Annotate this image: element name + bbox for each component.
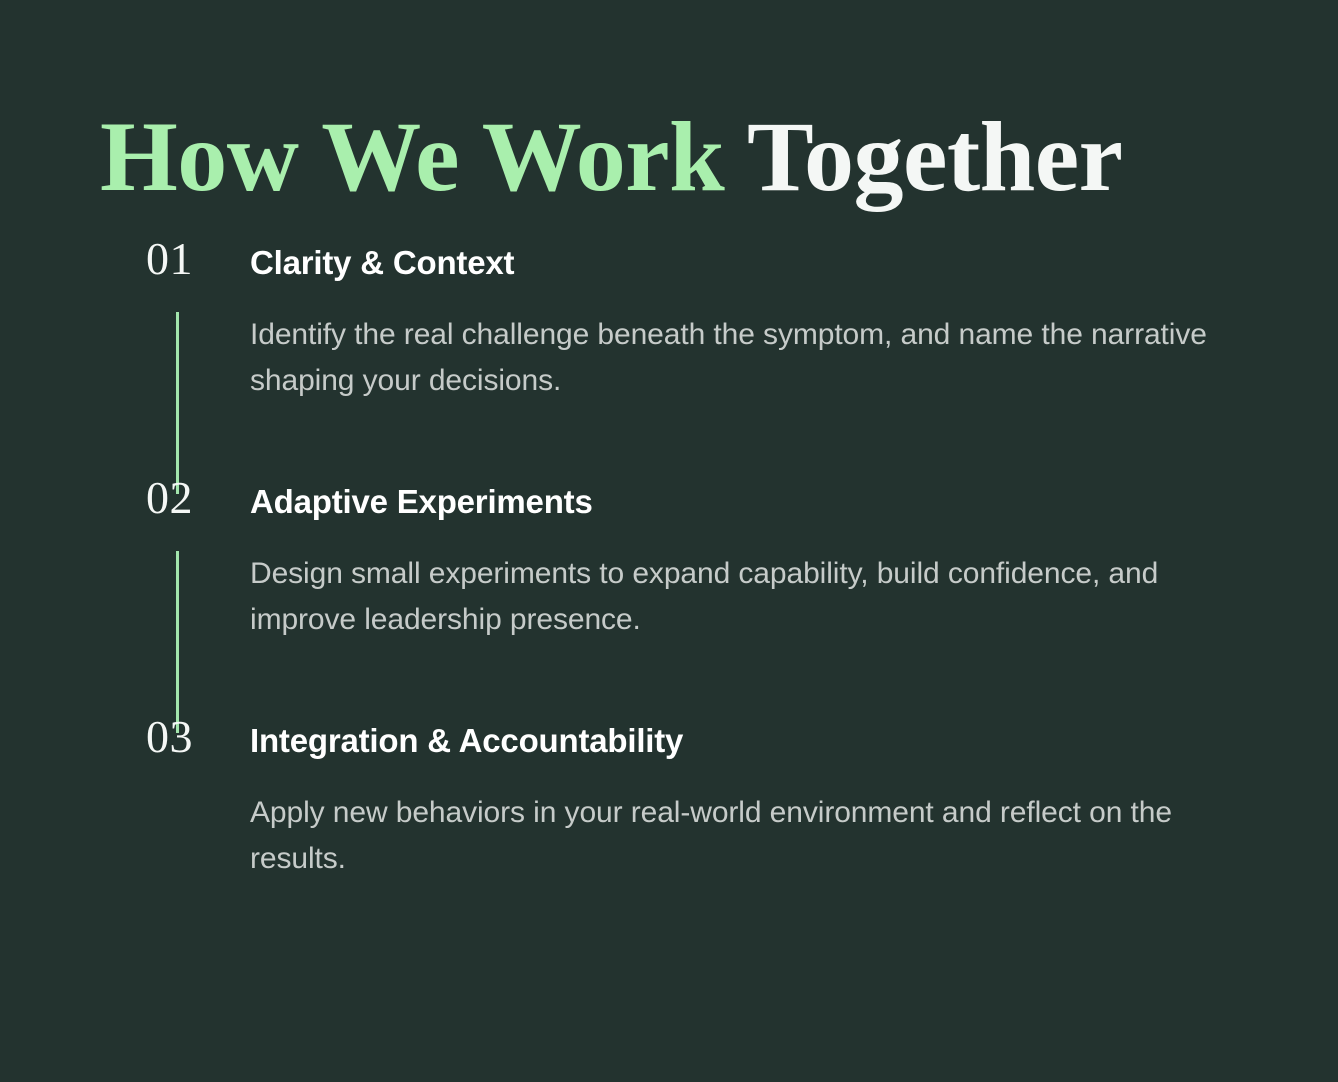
page-title-accent: How We Work [100, 101, 724, 212]
list-item: 01 Clarity & Context Identify the real c… [0, 236, 1338, 403]
step-description: Apply new behaviors in your real-world e… [250, 790, 1270, 881]
step-title: Integration & Accountability [250, 723, 683, 759]
step-header: 01 Clarity & Context [146, 236, 1338, 282]
steps-list: 01 Clarity & Context Identify the real c… [0, 236, 1338, 912]
page-title-rest: Together [724, 101, 1122, 212]
step-title: Adaptive Experiments [250, 484, 593, 520]
step-number: 02 [146, 475, 250, 521]
list-item: 02 Adaptive Experiments Design small exp… [0, 475, 1338, 642]
step-divider-rule [176, 312, 179, 494]
step-header: 03 Integration & Accountability [146, 714, 1338, 760]
how-we-work-panel: How We Work Together 01 Clarity & Contex… [0, 0, 1338, 1082]
step-number: 03 [146, 714, 250, 760]
spacer [0, 672, 1338, 714]
step-divider-rule [176, 551, 179, 733]
list-item: 03 Integration & Accountability Apply ne… [0, 714, 1338, 881]
page-title: How We Work Together [100, 101, 1300, 213]
step-number: 01 [146, 236, 250, 282]
step-body: Identify the real challenge beneath the … [146, 312, 1338, 403]
spacer [0, 433, 1338, 475]
step-header: 02 Adaptive Experiments [146, 475, 1338, 521]
step-title: Clarity & Context [250, 245, 514, 281]
step-body: Apply new behaviors in your real-world e… [146, 790, 1338, 881]
step-description: Identify the real challenge beneath the … [250, 312, 1270, 403]
step-description: Design small experiments to expand capab… [250, 551, 1270, 642]
step-body: Design small experiments to expand capab… [146, 551, 1338, 642]
